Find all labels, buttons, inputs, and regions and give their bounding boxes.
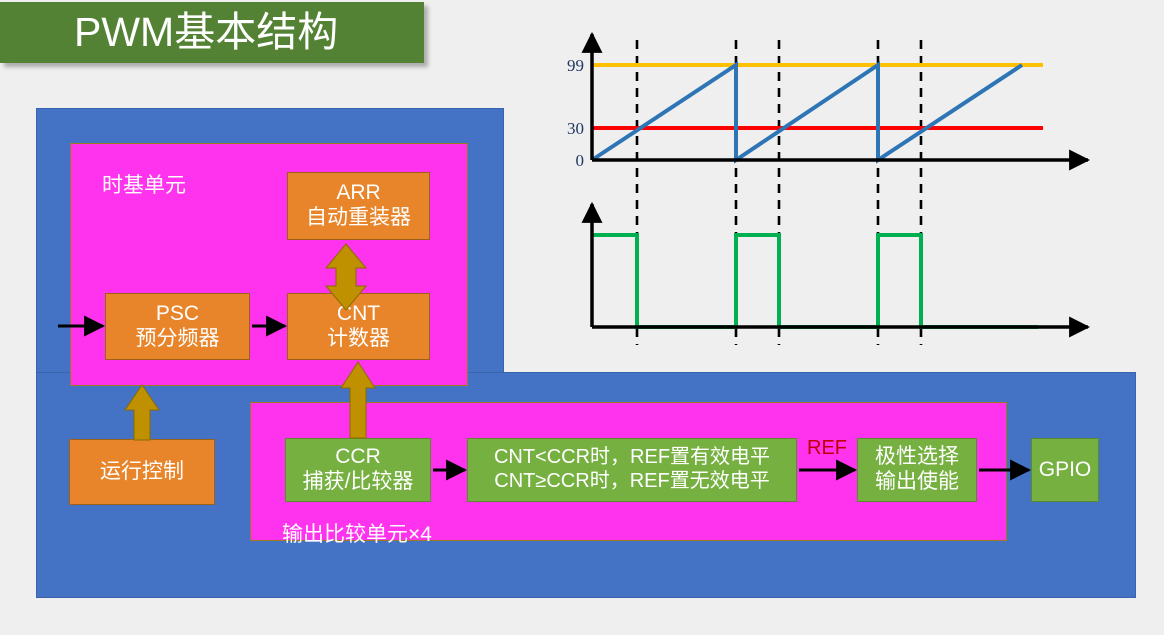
- time-base-unit-caption: 时基单元: [102, 173, 186, 199]
- chart-counter-sawtooth: [592, 65, 1022, 160]
- block-polarity-select-line2: 输出使能: [875, 470, 959, 495]
- chart-ylabel-0: 0: [576, 151, 585, 170]
- block-arr[interactable]: ARR 自动重装器: [287, 172, 430, 240]
- block-compare-condition-line1: CNT<CCR时，REF置有效电平: [494, 446, 770, 470]
- block-ccr[interactable]: CCR 捕获/比较器: [285, 438, 431, 502]
- block-polarity-select-line1: 极性选择: [875, 445, 959, 470]
- chart-dashed-markers: [637, 40, 921, 345]
- chart-ylabel-99: 99: [567, 56, 584, 75]
- block-ccr-line2: 捕获/比较器: [303, 470, 414, 495]
- block-compare-condition-line2: CNT≥CCR时，REF置无效电平: [494, 470, 769, 494]
- output-compare-unit-caption: 输出比较单元×4: [282, 522, 432, 548]
- block-psc-line1: PSC: [156, 302, 199, 327]
- block-psc[interactable]: PSC 预分频器: [105, 293, 250, 360]
- block-compare-condition[interactable]: CNT<CCR时，REF置有效电平 CNT≥CCR时，REF置无效电平: [467, 438, 797, 502]
- wire-label-ref: REF: [807, 437, 847, 460]
- block-cnt-line2: 计数器: [327, 327, 390, 352]
- block-polarity-select[interactable]: 极性选择 输出使能: [857, 438, 977, 502]
- block-run-control-label: 运行控制: [100, 460, 184, 485]
- block-run-control[interactable]: 运行控制: [69, 439, 215, 505]
- block-ccr-line1: CCR: [335, 445, 381, 470]
- block-psc-line2: 预分频器: [136, 327, 220, 352]
- page-title: PWM基本结构: [74, 8, 338, 56]
- chart-ylabel-30: 30: [567, 119, 584, 138]
- block-cnt-line1: CNT: [337, 302, 380, 327]
- block-gpio-label: GPIO: [1039, 458, 1092, 483]
- block-gpio[interactable]: GPIO: [1031, 438, 1099, 502]
- block-arr-line2: 自动重装器: [306, 206, 411, 231]
- block-cnt[interactable]: CNT 计数器: [287, 293, 430, 360]
- block-arr-line1: ARR: [336, 181, 380, 206]
- chart-pwm-output: [592, 235, 1038, 327]
